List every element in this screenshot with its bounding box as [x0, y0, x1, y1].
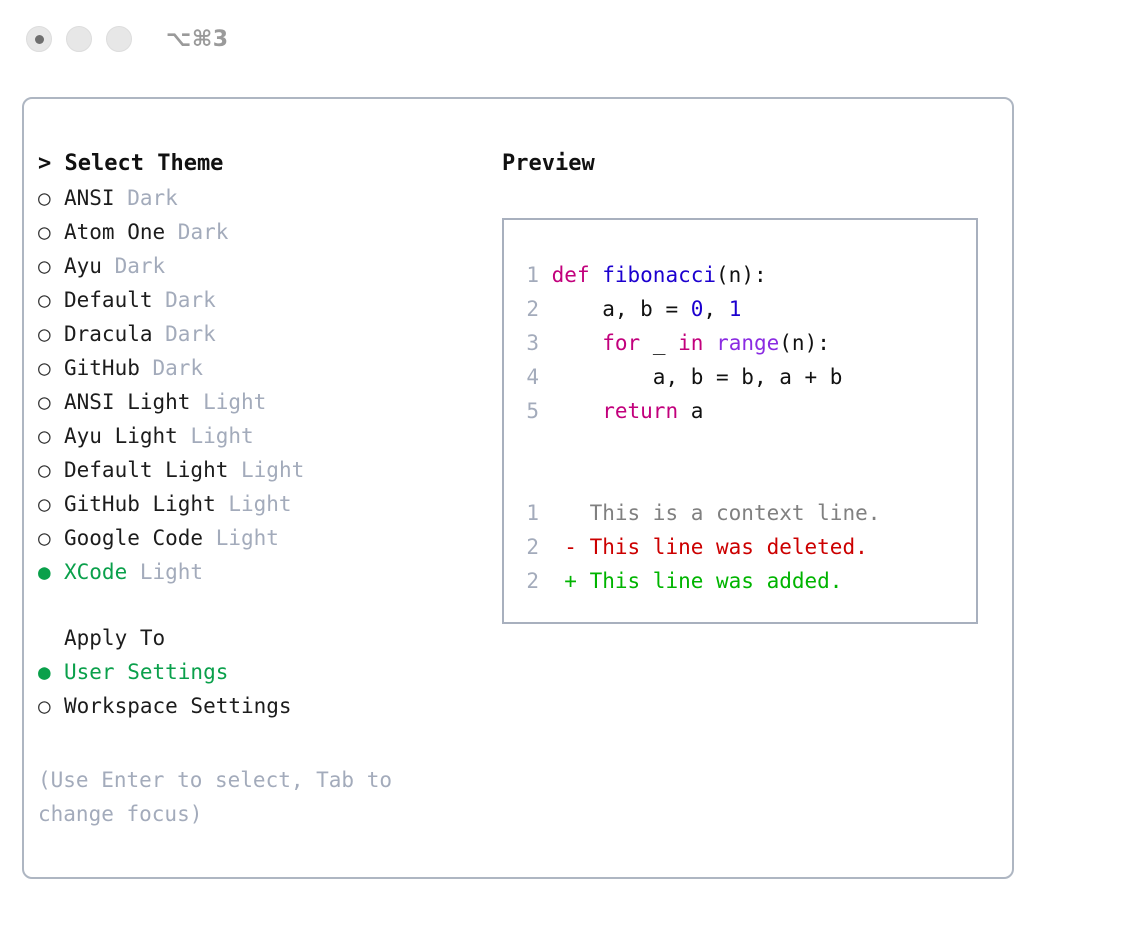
diff-sign — [539, 501, 577, 525]
theme-option-kind: Dark — [153, 288, 216, 312]
code-token: for — [602, 331, 640, 355]
traffic-light-controls — [26, 26, 132, 52]
apply-to-option-label: User Settings — [64, 660, 228, 684]
code-line-3: 4 a, b = b, a + b — [515, 360, 880, 394]
theme-option-kind: Light — [203, 526, 279, 550]
theme-option-3[interactable]: ○Default Dark — [38, 283, 488, 317]
theme-option-label: Google Code — [64, 526, 203, 550]
theme-option-kind: Light — [127, 560, 203, 584]
theme-option-kind: Dark — [165, 220, 228, 244]
radio-selected-icon: ● — [38, 555, 64, 589]
code-token — [552, 399, 603, 423]
diff-line-number: 1 — [515, 496, 539, 530]
window-button-maximize[interactable] — [106, 26, 132, 52]
code-token — [703, 331, 716, 355]
code-token: range — [716, 331, 779, 355]
diff-text: This line was deleted. — [577, 535, 868, 559]
radio-unselected-icon: ○ — [38, 283, 64, 317]
theme-option-label: ANSI — [64, 186, 115, 210]
code-token: 0 — [691, 297, 704, 321]
radio-unselected-icon: ○ — [38, 453, 64, 487]
radio-unselected-icon: ○ — [38, 215, 64, 249]
code-line-number: 5 — [515, 394, 539, 428]
theme-option-2[interactable]: ○Ayu Dark — [38, 249, 488, 283]
code-token: a, b = b, a + b — [552, 365, 843, 389]
diff-sign: + — [539, 569, 577, 593]
theme-option-11[interactable]: ●XCode Light — [38, 555, 488, 589]
theme-option-label: Default — [64, 288, 153, 312]
theme-option-label: GitHub Light — [64, 492, 216, 516]
apply-to-option-label: Workspace Settings — [64, 694, 292, 718]
theme-option-7[interactable]: ○Ayu Light Light — [38, 419, 488, 453]
preview-code: 1 def fibonacci(n):2 a, b = 0, 13 for _ … — [515, 258, 880, 598]
radio-unselected-icon: ○ — [38, 521, 64, 555]
theme-selector-column: > Select Theme ○ANSI Dark○Atom One Dark○… — [38, 147, 488, 831]
radio-unselected-icon: ○ — [38, 351, 64, 385]
theme-option-6[interactable]: ○ANSI Light Light — [38, 385, 488, 419]
preview-heading: Preview — [502, 147, 982, 181]
select-theme-heading: > Select Theme — [38, 147, 488, 181]
code-line-2: 3 for _ in range(n): — [515, 326, 880, 360]
apply-to-option-0[interactable]: ●User Settings — [38, 655, 488, 689]
radio-unselected-icon: ○ — [38, 419, 64, 453]
radio-unselected-icon: ○ — [38, 317, 64, 351]
window-button-close[interactable] — [26, 26, 52, 52]
theme-option-kind: Dark — [115, 186, 178, 210]
code-line-number: 1 — [515, 258, 539, 292]
theme-option-label: Ayu — [64, 254, 102, 278]
radio-unselected-icon: ○ — [38, 689, 64, 723]
theme-list: ○ANSI Dark○Atom One Dark○Ayu Dark○Defaul… — [38, 181, 488, 589]
code-line-0: 1 def fibonacci(n): — [515, 258, 880, 292]
theme-option-label: ANSI Light — [64, 390, 190, 414]
diff-text: This is a context line. — [577, 501, 880, 525]
code-line-number: 3 — [515, 326, 539, 360]
theme-option-kind: Dark — [153, 322, 216, 346]
apply-to-heading-label: Apply To — [64, 626, 165, 650]
preview-column: Preview 1 def fibonacci(n):2 a, b = 0, 1… — [502, 147, 982, 624]
theme-option-5[interactable]: ○GitHub Dark — [38, 351, 488, 385]
code-token: a — [678, 399, 703, 423]
window-button-minimize[interactable] — [66, 26, 92, 52]
heading-indent — [38, 621, 64, 655]
title-bar: ⌥⌘3 — [0, 0, 1140, 78]
theme-option-0[interactable]: ○ANSI Dark — [38, 181, 488, 215]
radio-unselected-icon: ○ — [38, 249, 64, 283]
code-token: def — [552, 263, 603, 287]
theme-option-4[interactable]: ○Dracula Dark — [38, 317, 488, 351]
code-token: _ — [640, 331, 678, 355]
theme-option-kind: Dark — [102, 254, 165, 278]
diff-line-number: 2 — [515, 564, 539, 598]
diff-sign: - — [539, 535, 577, 559]
theme-option-8[interactable]: ○Default Light Light — [38, 453, 488, 487]
code-token: a, b = — [552, 297, 691, 321]
theme-option-label: Atom One — [64, 220, 165, 244]
diff-text: This line was added. — [577, 569, 843, 593]
active-dot-icon — [35, 35, 44, 44]
theme-option-label: Ayu Light — [64, 424, 178, 448]
theme-option-kind: Light — [190, 390, 266, 414]
code-token: in — [678, 331, 703, 355]
main-panel: > Select Theme ○ANSI Dark○Atom One Dark○… — [22, 97, 1014, 879]
theme-option-kind: Light — [228, 458, 304, 482]
radio-unselected-icon: ○ — [38, 181, 64, 215]
theme-option-label: XCode — [64, 560, 127, 584]
code-line-number: 4 — [515, 360, 539, 394]
code-line-number: 2 — [515, 292, 539, 326]
code-token: 1 — [729, 297, 742, 321]
theme-option-label: Default Light — [64, 458, 228, 482]
code-blank-line — [515, 428, 880, 462]
theme-option-label: GitHub — [64, 356, 140, 380]
theme-option-10[interactable]: ○Google Code Light — [38, 521, 488, 555]
code-token: fibonacci — [602, 263, 716, 287]
code-line-4: 5 return a — [515, 394, 880, 428]
apply-to-list: ●User Settings○Workspace Settings — [38, 655, 488, 723]
code-token: , — [703, 297, 728, 321]
theme-option-kind: Light — [216, 492, 292, 516]
theme-option-label: Dracula — [64, 322, 153, 346]
code-token: return — [602, 399, 678, 423]
theme-option-9[interactable]: ○GitHub Light Light — [38, 487, 488, 521]
apply-to-option-1[interactable]: ○Workspace Settings — [38, 689, 488, 723]
theme-option-kind: Light — [178, 424, 254, 448]
theme-option-1[interactable]: ○Atom One Dark — [38, 215, 488, 249]
code-token — [552, 331, 603, 355]
code-token: (n): — [716, 263, 767, 287]
radio-unselected-icon: ○ — [38, 385, 64, 419]
code-blank-line — [515, 462, 880, 496]
preview-box: 1 def fibonacci(n):2 a, b = 0, 13 for _ … — [502, 218, 978, 624]
keyboard-shortcut-label: ⌥⌘3 — [166, 27, 229, 52]
diff-line-0: 1 This is a context line. — [515, 496, 880, 530]
diff-line-number: 2 — [515, 530, 539, 564]
theme-option-kind: Dark — [140, 356, 203, 380]
app-window: ⌥⌘3 > Select Theme ○ANSI Dark○Atom One D… — [0, 0, 1140, 934]
code-line-1: 2 a, b = 0, 1 — [515, 292, 880, 326]
diff-line-2: 2 + This line was added. — [515, 564, 880, 598]
code-token: (n): — [779, 331, 830, 355]
radio-unselected-icon: ○ — [38, 487, 64, 521]
radio-selected-icon: ● — [38, 655, 64, 689]
apply-to-heading: Apply To — [38, 621, 488, 655]
help-text: (Use Enter to select, Tab to change focu… — [38, 763, 448, 831]
diff-line-1: 2 - This line was deleted. — [515, 530, 880, 564]
spacer — [38, 589, 488, 621]
